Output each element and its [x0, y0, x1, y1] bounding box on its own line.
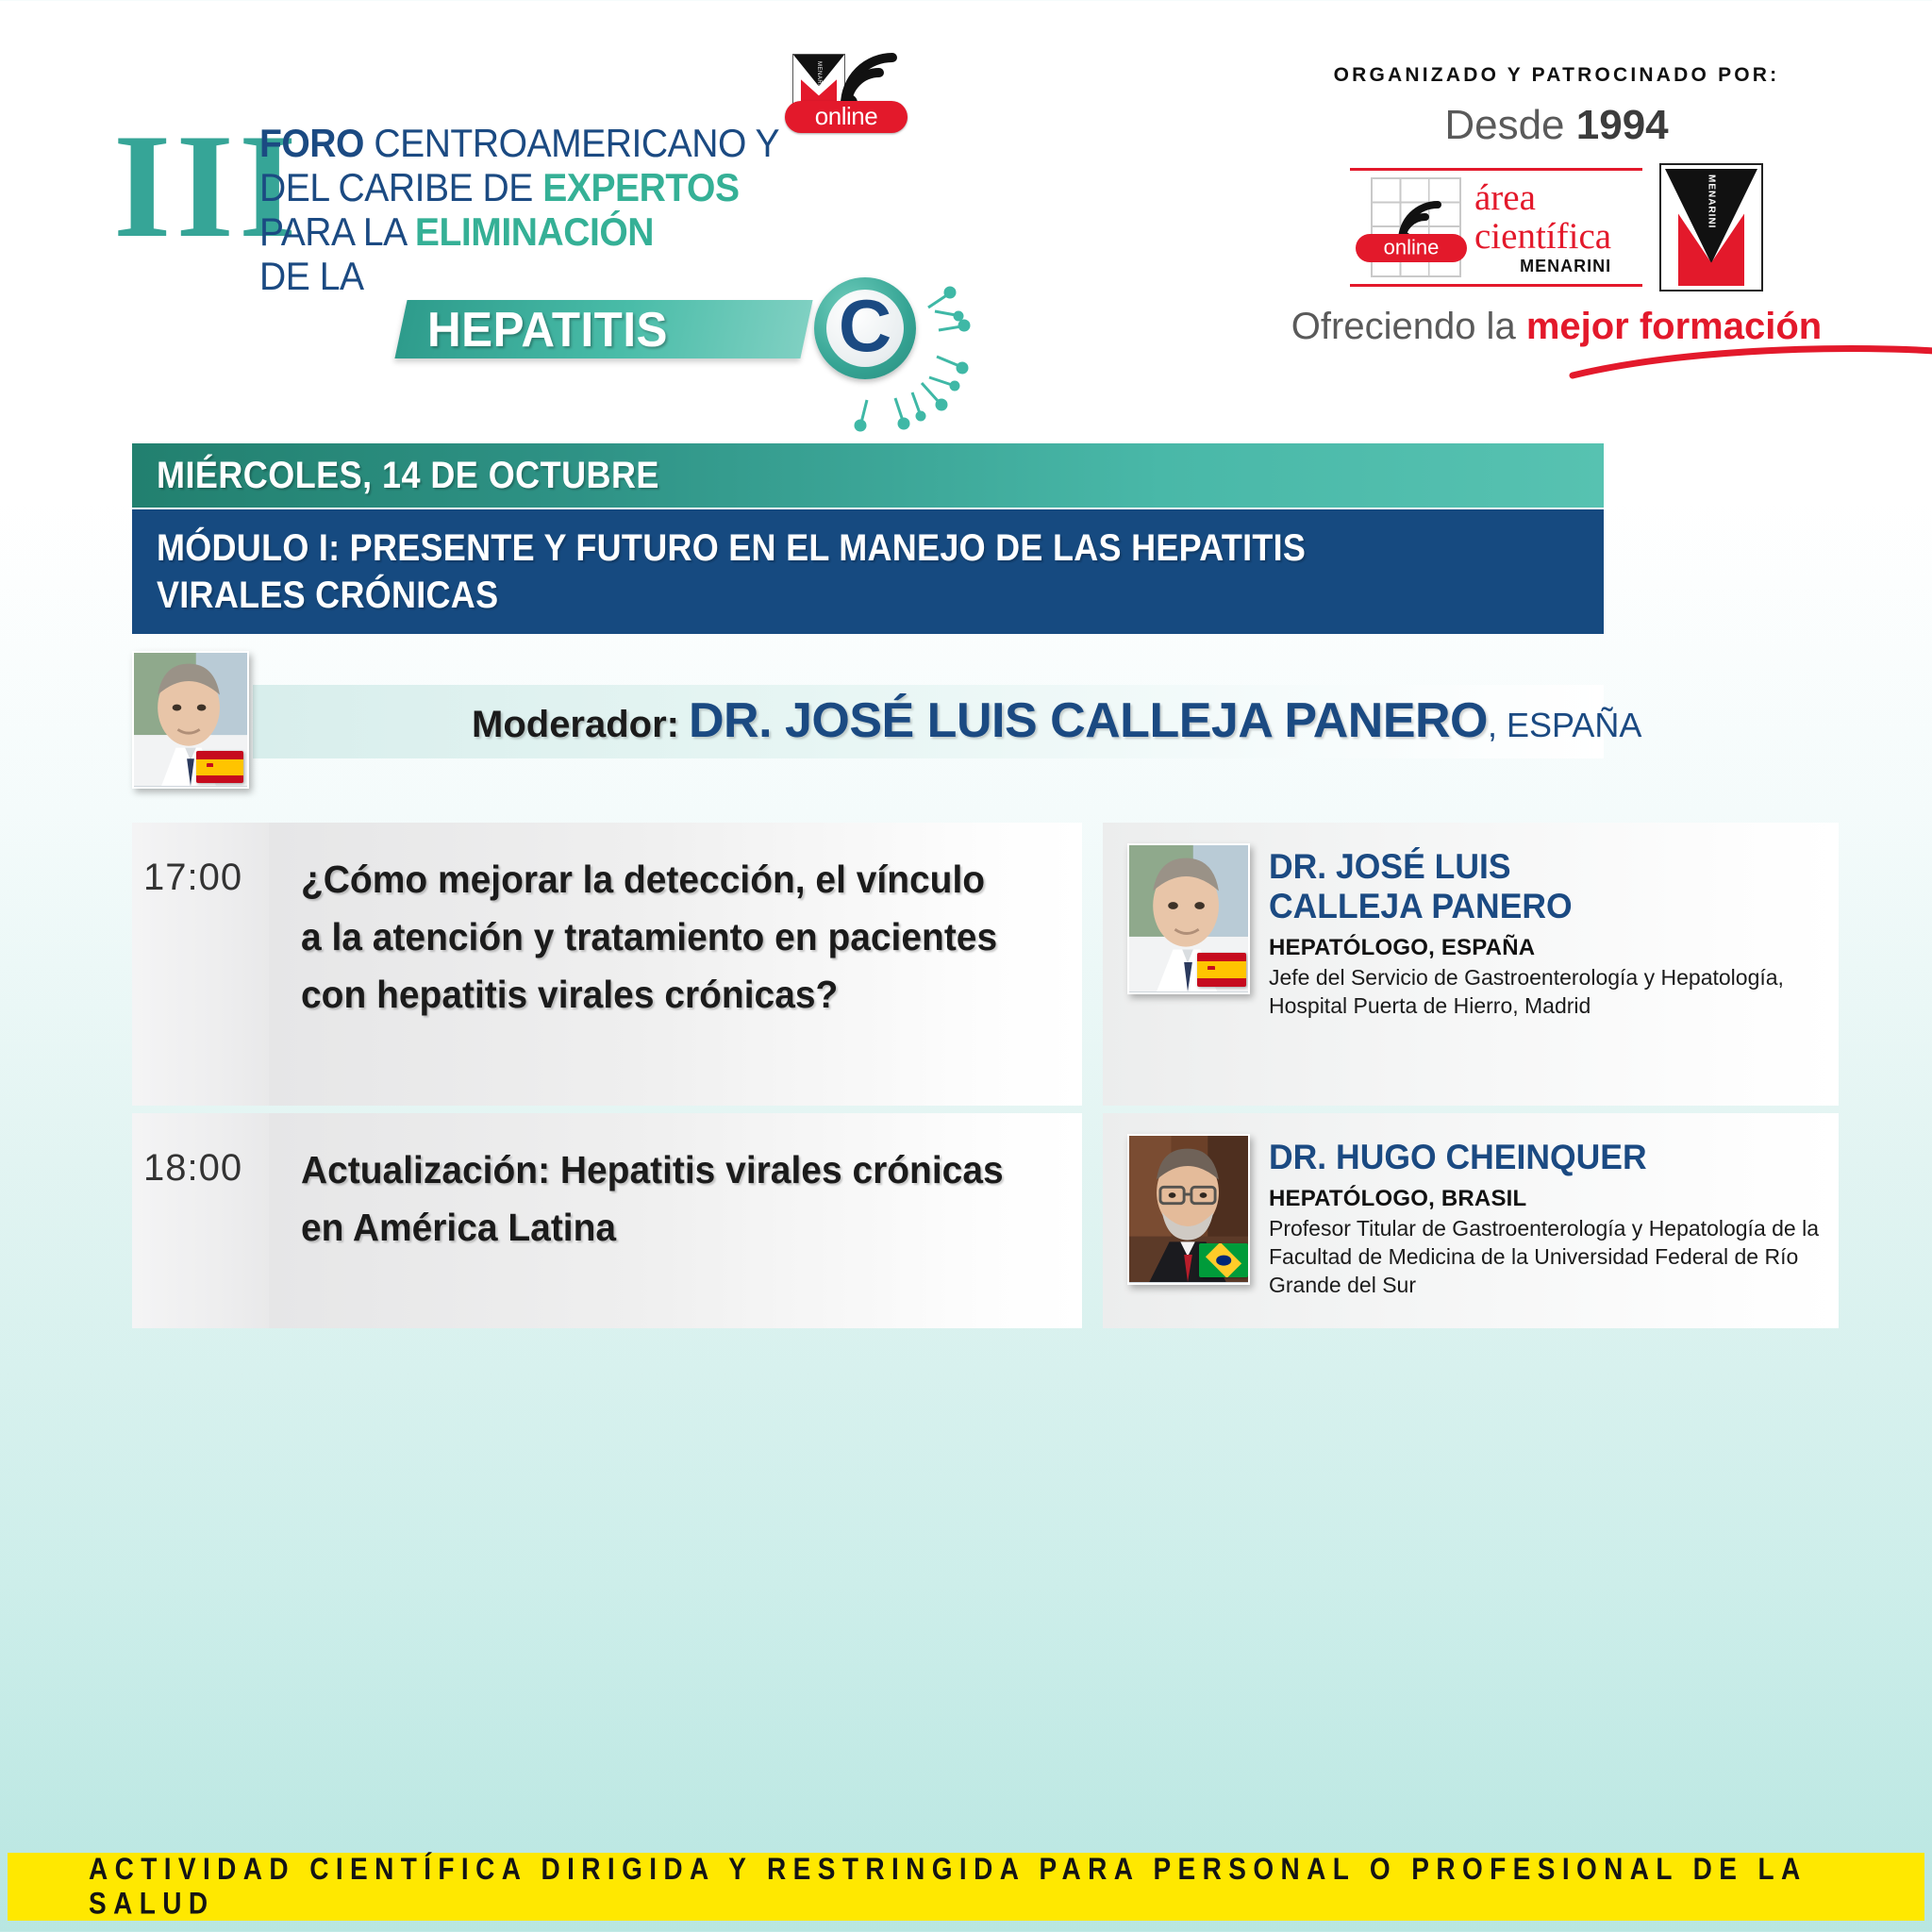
- organized-by-label: ORGANIZADO Y PATROCINADO POR:: [1255, 64, 1858, 87]
- event-title-line-1: FORO CENTROAMERICANO Y: [259, 121, 779, 165]
- flag-spain-icon: [1197, 953, 1246, 987]
- speaker-avatar: [1127, 843, 1250, 994]
- underline-swoosh-icon: [1569, 343, 1932, 381]
- menarini-word: MENARINI: [1474, 257, 1611, 276]
- area-word: área: [1474, 179, 1611, 217]
- session-title: Actualización: Hepatitis virales crónica…: [301, 1141, 1010, 1257]
- moderator-avatar: [132, 651, 249, 789]
- since-label: Desde 1994: [1255, 102, 1858, 149]
- sessions-list: 17:00 ¿Cómo mejorar la detección, el vín…: [132, 823, 1858, 1336]
- event-title-block: FORO CENTROAMERICANO Y DEL CARIBE DE EXP…: [259, 121, 819, 362]
- moderator-row: Moderador:DR. JOSÉ LUIS CALLEJA PANERO, …: [132, 651, 1604, 802]
- moderator-country: , ESPAÑA: [1488, 706, 1641, 744]
- speaker-info: DR. HUGO CHEINQUER HEPATÓLOGO, BRASIL Pr…: [1269, 1134, 1822, 1311]
- event-logo: III FORO CENTROAMERICANO Y DEL CARIBE DE…: [113, 115, 896, 341]
- speaker-role: HEPATÓLOGO, BRASIL: [1269, 1186, 1822, 1212]
- speaker-card: DR. JOSÉ LUIS CALLEJA PANERO HEPATÓLOGO,…: [1103, 823, 1839, 1106]
- session-title-cell: Actualización: Hepatitis virales crónica…: [269, 1113, 1082, 1328]
- hepatitis-c-badge: C: [814, 277, 916, 379]
- area-cientifica-wordmark: área científica MENARINI: [1474, 179, 1611, 276]
- online-pill-badge: online: [1356, 234, 1467, 262]
- menarini-vertical-text: MENARINI: [1707, 175, 1717, 228]
- session-row: 18:00 Actualización: Hepatitis virales c…: [132, 1113, 1858, 1328]
- column-gap: [1082, 823, 1103, 1106]
- speaker-name-line-1: DR. JOSÉ LUIS: [1269, 847, 1800, 887]
- module-title: MÓDULO I: PRESENTE Y FUTURO EN EL MANEJO…: [157, 525, 1437, 619]
- area-cientifica-logo: online área científica MENARINI: [1350, 162, 1642, 292]
- session-row: 17:00 ¿Cómo mejorar la detección, el vín…: [132, 823, 1858, 1106]
- session-time-cell: 17:00: [132, 823, 269, 1106]
- menarini-logo: MENARINI: [1659, 163, 1763, 291]
- event-title-line-2: DEL CARIBE DE EXPERTOS: [259, 165, 779, 209]
- flag-spain-icon: [196, 751, 243, 783]
- menarini-m-mark-icon: MENARINI: [792, 54, 845, 107]
- menarini-vertical-text: MENARINI: [816, 61, 822, 92]
- speaker-name-line-1: DR. HUGO CHEINQUER: [1269, 1138, 1800, 1177]
- session-time-cell: 18:00: [132, 1113, 269, 1328]
- session-title-cell: ¿Cómo mejorar la detección, el vínculo a…: [269, 823, 1082, 1106]
- event-title-line-3: PARA LA ELIMINACIÓN: [259, 209, 779, 254]
- module-band: MÓDULO I: PRESENTE Y FUTURO EN EL MANEJO…: [132, 509, 1604, 634]
- session-time: 17:00: [143, 857, 242, 898]
- session-time: 18:00: [143, 1147, 242, 1189]
- speaker-name-line-2: CALLEJA PANERO: [1269, 887, 1800, 926]
- cientifica-word: científica: [1474, 217, 1611, 257]
- speaker-affiliation: Profesor Titular de Gastroenterología y …: [1269, 1214, 1822, 1299]
- session-title: ¿Cómo mejorar la detección, el vínculo a…: [301, 851, 1010, 1024]
- footer-disclaimer-bar: ACTIVIDAD CIENTÍFICA DIRIGIDA Y RESTRING…: [8, 1853, 1924, 1921]
- moderator-name: DR. JOSÉ LUIS CALLEJA PANERO: [689, 693, 1488, 748]
- header: MENARINI online III FORO CENTROAMERICANO…: [0, 0, 1932, 429]
- moderator-text: Moderador:DR. JOSÉ LUIS CALLEJA PANERO, …: [472, 692, 1641, 749]
- flag-brazil-icon: [1199, 1243, 1248, 1277]
- grid-icon: online: [1371, 177, 1461, 277]
- sponsor-block: ORGANIZADO Y PATROCINADO POR: Desde 1994…: [1255, 64, 1858, 348]
- divider-bottom: [1350, 284, 1642, 287]
- speaker-affiliation: Jefe del Servicio de Gastroenterología y…: [1269, 963, 1822, 1020]
- event-title-line-4: DE LA: [259, 254, 779, 298]
- hepatitis-word: HEPATITIS: [427, 302, 668, 358]
- speaker-avatar: [1127, 1134, 1250, 1285]
- speaker-role: HEPATÓLOGO, ESPAÑA: [1269, 935, 1822, 961]
- date-band: MIÉRCOLES, 14 DE OCTUBRE: [132, 443, 1604, 508]
- date-label: MIÉRCOLES, 14 DE OCTUBRE: [157, 455, 659, 497]
- tagline: Ofreciendo la mejor formación: [1255, 306, 1858, 348]
- footer-disclaimer-text: ACTIVIDAD CIENTÍFICA DIRIGIDA Y RESTRING…: [89, 1852, 1924, 1922]
- speaker-info: DR. JOSÉ LUIS CALLEJA PANERO HEPATÓLOGO,…: [1269, 843, 1822, 1089]
- moderator-label: Moderador:: [472, 704, 679, 745]
- speaker-card: DR. HUGO CHEINQUER HEPATÓLOGO, BRASIL Pr…: [1103, 1113, 1839, 1328]
- column-gap: [1082, 1113, 1103, 1328]
- sponsor-logos-row: online área científica MENARINI MENARINI: [1255, 162, 1858, 292]
